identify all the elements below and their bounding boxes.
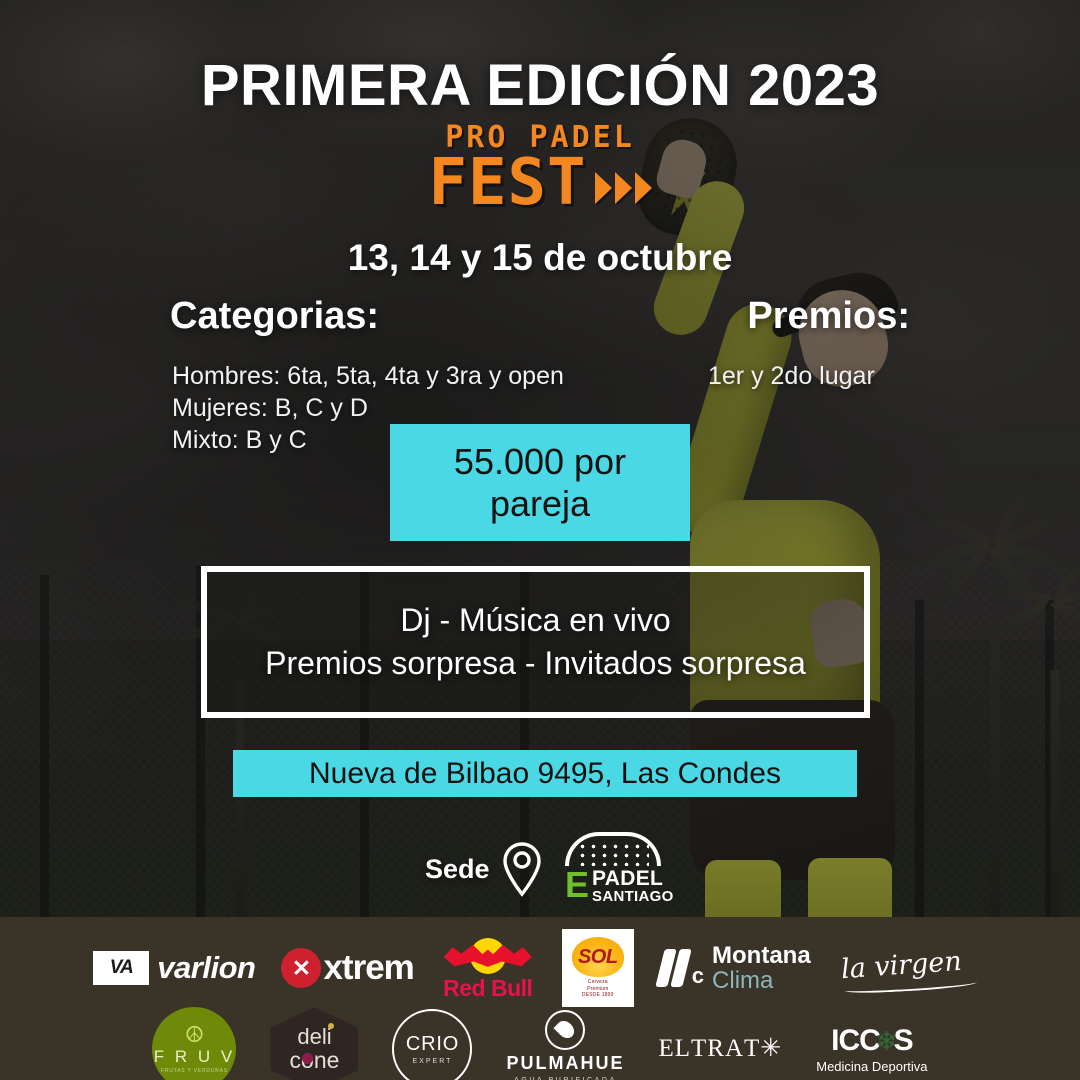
pro-padel-fest-logo: PRO PADEL FEST	[0, 120, 1080, 214]
venue-row: Sede E PADEL SANTIAGO	[425, 832, 674, 906]
epadel-santiago-logo: E PADEL SANTIAGO	[565, 832, 674, 906]
crio-wordmark: CRIO	[406, 1033, 459, 1056]
el-trat-line-3: T✳	[744, 1036, 782, 1062]
price-line-2: pareja	[454, 483, 626, 524]
sol-subtext: CervezaPremiumDESDE 1899	[582, 979, 614, 999]
sponsor-logo-xtrem: ✕ xtrem	[281, 948, 413, 988]
padel-court-dome-icon	[565, 832, 661, 866]
features-box: Dj - Música en vivo Premios sorpresa - I…	[201, 566, 870, 718]
price-line-1: 55.000 por	[454, 441, 626, 482]
sponsor-logo-montana-clima: c Montana Clima	[660, 943, 811, 993]
iccos-word-end: S	[894, 1024, 913, 1058]
logo-bottom-text: FEST	[428, 153, 586, 214]
clima-word: Clima	[712, 968, 811, 993]
epadel-letter-e: E	[565, 868, 592, 906]
epadel-wordmark: E PADEL SANTIAGO	[565, 868, 674, 906]
sponsor-row-2: ☮ F R U V FRUTAS Y VERDURAS deli cone CR…	[0, 1007, 1080, 1080]
epadel-word: PADEL	[592, 868, 674, 889]
varlion-mark-icon: VA	[93, 951, 149, 985]
el-trat-line-2: TRA	[691, 1036, 744, 1062]
event-dates: 13, 14 y 15 de octubre	[0, 237, 1080, 279]
sponsor-logo-fruv: ☮ F R U V FRUTAS Y VERDURAS	[152, 1007, 236, 1080]
epadel-city: SANTIAGO	[592, 889, 674, 906]
price-badge: 55.000 por pareja	[390, 424, 690, 541]
sponsor-row-1: VA varlion ✕ xtrem Red Bull SOL CervezaP…	[0, 929, 1080, 1007]
sponsor-logo-crio-expert: CRIO EXPERT	[392, 1009, 472, 1080]
sponsor-logo-pulmahue: PULMAHUE AGUA PURIFICADA	[506, 1010, 624, 1080]
sponsor-logo-red-bull: Red Bull	[440, 935, 536, 1002]
pulmahue-subtext: AGUA PURIFICADA	[514, 1077, 617, 1080]
xtrem-wordmark: xtrem	[323, 948, 413, 988]
tree-icon: ☮	[185, 1024, 205, 1046]
fruv-wordmark: F R U V	[154, 1047, 235, 1067]
list-item: Hombres: 6ta, 5ta, 4ta y 3ra y open	[172, 360, 564, 392]
sol-sun-icon: SOL	[572, 937, 624, 977]
logo-bottom-row: FEST	[428, 153, 651, 214]
feature-line: Premios sorpresa - Invitados sorpresa	[265, 645, 806, 682]
chevron-right-icon	[595, 172, 652, 204]
varlion-wordmark: varlion	[157, 950, 255, 986]
pulmahue-wordmark: PULMAHUE	[506, 1053, 624, 1074]
crio-subtext: EXPERT	[413, 1058, 453, 1065]
xtrem-x-icon: ✕	[281, 948, 321, 988]
sponsor-logo-iccos: ICC ❄ S Medicina Deportiva	[816, 1024, 927, 1074]
price-text: 55.000 por pareja	[454, 441, 626, 524]
section-headings: Categorias: Premios:	[170, 295, 910, 338]
address-badge: Nueva de Bilbao 9495, Las Condes	[233, 750, 857, 797]
sponsor-logo-sol: SOL CervezaPremiumDESDE 1899	[562, 929, 634, 1007]
sponsor-logo-la-virgen: la virgen	[837, 944, 987, 992]
cone-word: cone	[290, 1048, 340, 1072]
fruv-subtext: FRUTAS Y VERDURAS	[161, 1068, 228, 1074]
address-text: Nueva de Bilbao 9495, Las Condes	[309, 757, 781, 791]
el-trat-line-1: EL	[658, 1036, 691, 1062]
location-pin-icon	[501, 841, 543, 897]
red-bull-wordmark: Red Bull	[443, 975, 532, 1002]
prizes-heading: Premios:	[747, 295, 910, 338]
sponsor-bar: VA varlion ✕ xtrem Red Bull SOL CervezaP…	[0, 917, 1080, 1080]
montana-letter-c: c	[692, 963, 704, 989]
montana-mark-icon: c	[660, 949, 704, 987]
sol-wordmark: SOL	[578, 946, 618, 969]
iccos-subtext: Medicina Deportiva	[816, 1059, 927, 1074]
categories-heading: Categorias:	[170, 295, 379, 338]
sponsor-logo-varlion: VA varlion	[93, 950, 255, 986]
sponsor-logo-deli-cone: deli cone	[270, 1007, 358, 1080]
water-drop-icon	[545, 1010, 585, 1050]
iccos-word-start: ICC	[831, 1024, 880, 1058]
montana-word: Montana	[712, 943, 811, 968]
venue-label: Sede	[425, 855, 487, 883]
varlion-mark-text: VA	[110, 957, 133, 979]
feature-line: Dj - Música en vivo	[400, 602, 670, 639]
deli-word: deli	[297, 1026, 331, 1048]
event-poster: PRIMERA EDICIÓN 2023 PRO PADEL FEST 13, …	[0, 0, 1080, 1080]
list-item: Mujeres: B, C y D	[172, 392, 564, 424]
list-item: 1er y 2do lugar	[708, 360, 875, 392]
sponsor-logo-el-trat: EL TRA T✳	[658, 1036, 782, 1062]
page-title: PRIMERA EDICIÓN 2023	[0, 52, 1080, 119]
prizes-list: 1er y 2do lugar	[708, 360, 875, 392]
red-bull-bulls-icon	[440, 935, 536, 977]
